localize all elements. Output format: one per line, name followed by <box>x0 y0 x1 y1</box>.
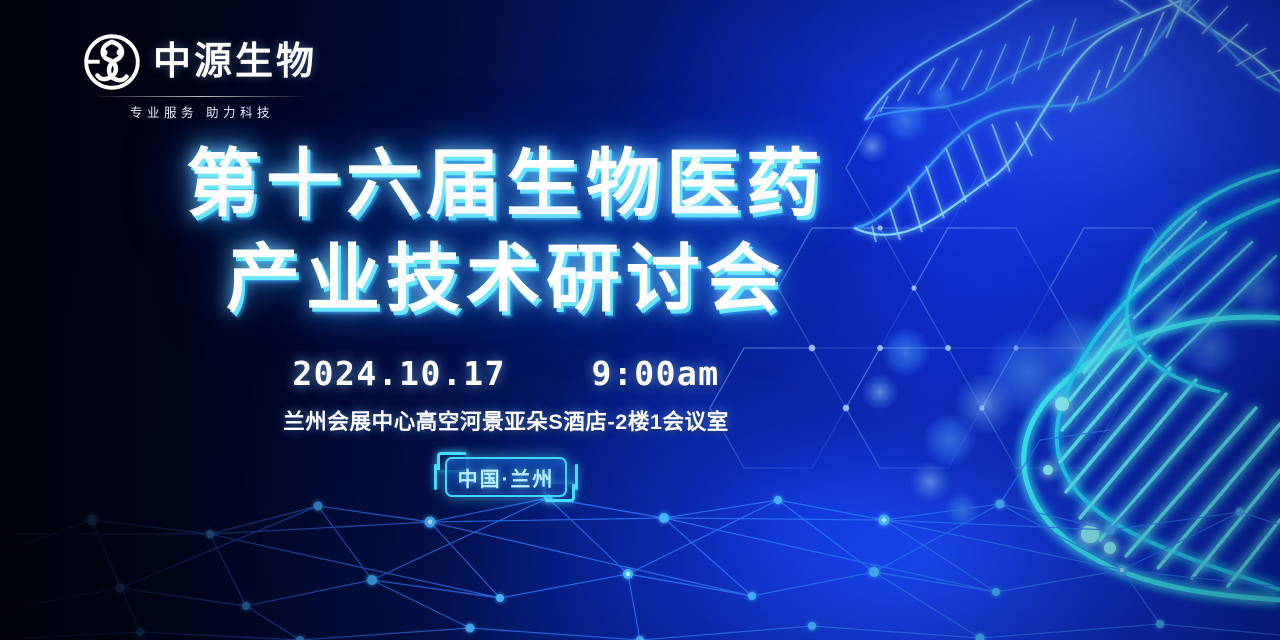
circular-emblem-icon <box>84 34 140 90</box>
event-banner: 中源生物 专业服务 助力科技 第十六届生物医药 产业技术研讨会 2024.10.… <box>0 0 1280 640</box>
event-datetime: 2024.10.17 9:00am <box>0 354 1012 393</box>
brand-name: 中源生物 <box>153 43 317 81</box>
brand-logo: 中源生物 专业服务 助力科技 <box>84 34 317 121</box>
logo-divider <box>98 96 304 97</box>
location-badge-label: 中国·兰州 <box>458 463 555 492</box>
brand-tagline: 专业服务 助力科技 <box>127 102 274 121</box>
bracket-right-bar-icon <box>575 464 578 490</box>
location-badge: 中国·兰州 <box>431 450 581 504</box>
event-venue: 兰州会展中心高空河景亚朵S酒店-2楼1会议室 <box>0 405 1012 436</box>
logo-row: 中源生物 <box>84 34 317 90</box>
event-title-line-1: 第十六届生物医药 <box>0 144 1012 225</box>
location-badge-box: 中国·兰州 <box>445 457 567 497</box>
location-badge-wrap: 中国·兰州 <box>0 450 1012 504</box>
event-title-line-2: 产业技术研讨会 <box>0 239 1012 320</box>
bracket-left-bar-icon <box>434 464 437 490</box>
event-title: 第十六届生物医药 产业技术研讨会 <box>0 144 1012 319</box>
